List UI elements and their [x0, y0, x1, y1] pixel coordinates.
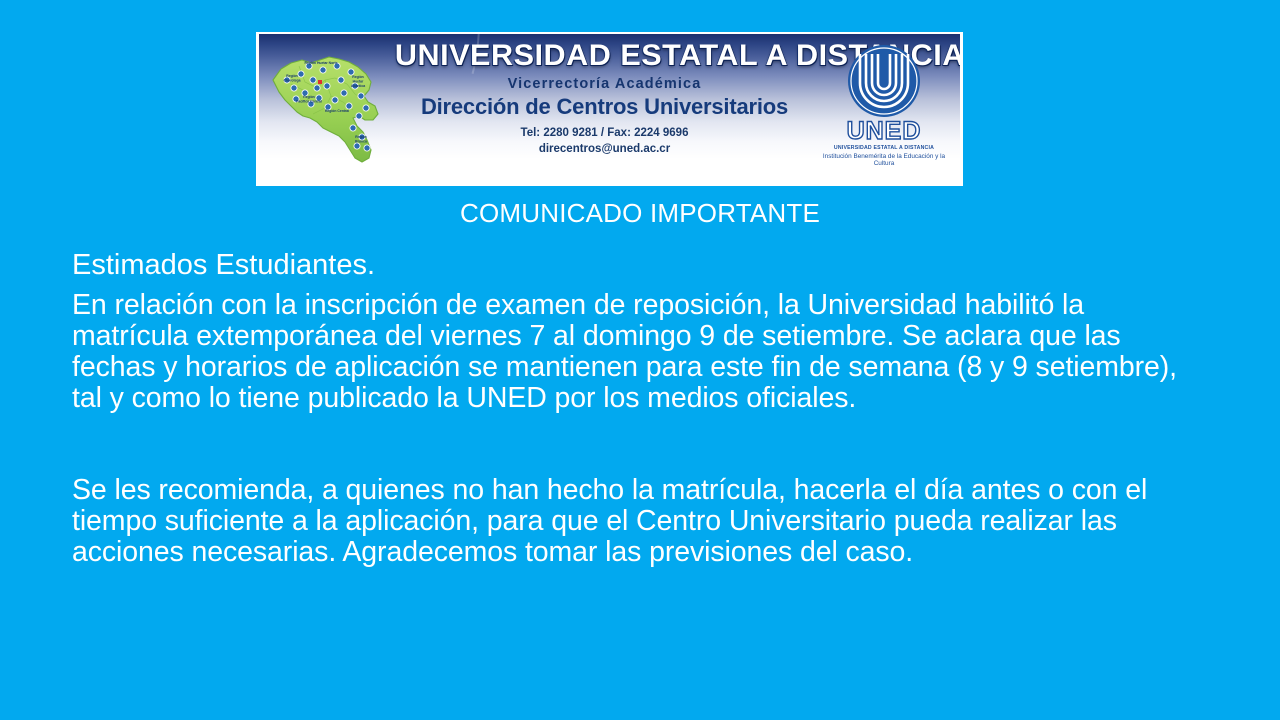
svg-text:Región: Región: [286, 74, 298, 78]
svg-text:Huetar: Huetar: [353, 80, 364, 84]
paragraph-2: Se les recomienda, a quienes no han hech…: [72, 475, 1198, 567]
costa-rica-map: Región Huetar Norte RegiónChorotega Regi…: [265, 36, 395, 176]
banner-phone: Tel: 2280 9281 / Fax: 2224 9696: [399, 127, 810, 139]
uned-tagline-benemerita: Institución Benemérita de la Educación y…: [816, 153, 952, 167]
announcement-body: Estimados Estudiantes. En relación con l…: [72, 248, 1198, 568]
banner-text-block: UNIVERSIDAD ESTATAL A DISTANCIA Vicerrec…: [399, 40, 810, 155]
svg-text:Región Central: Región Central: [325, 109, 349, 113]
costa-rica-map-icon: Región Huetar Norte RegiónChorotega Regi…: [265, 36, 395, 176]
greeting-line: Estimados Estudiantes.: [72, 248, 1198, 282]
uned-tagline-university: UNIVERSIDAD ESTATAL A DISTANCIA: [816, 145, 952, 151]
svg-text:Chorotega: Chorotega: [284, 79, 301, 83]
svg-text:Atlántica: Atlántica: [351, 84, 365, 88]
banner-email: direcentros@uned.ac.cr: [399, 143, 810, 155]
svg-text:Región: Región: [303, 95, 315, 99]
page-title: COMUNICADO IMPORTANTE: [0, 198, 1280, 229]
svg-text:Región: Región: [355, 135, 367, 139]
uned-wordmark: UNED: [816, 119, 952, 144]
capital-marker-icon: [318, 80, 322, 84]
svg-text:Región: Región: [352, 75, 364, 79]
uned-emblem-icon: [847, 44, 921, 118]
banner-subtitle: Vicerrectoría Académica: [399, 76, 810, 92]
banner-background: Región Huetar Norte RegiónChorotega Regi…: [259, 34, 960, 176]
uned-logo: UNED UNIVERSIDAD ESTATAL A DISTANCIA Ins…: [816, 44, 952, 167]
banner-department: Dirección de Centros Universitarios: [399, 94, 810, 120]
svg-text:Brunca: Brunca: [355, 140, 367, 144]
paragraph-1: En relación con la inscripción de examen…: [72, 290, 1198, 413]
svg-text:Región Huetar Norte: Región Huetar Norte: [305, 61, 338, 65]
banner-university-title: UNIVERSIDAD ESTATAL A DISTANCIA: [395, 40, 814, 72]
svg-text:Pacífico Central: Pacífico Central: [296, 100, 322, 104]
uned-header-banner: Región Huetar Norte RegiónChorotega Regi…: [256, 32, 963, 186]
slide-canvas: Región Huetar Norte RegiónChorotega Regi…: [0, 0, 1280, 720]
paragraph-spacer: [72, 413, 1198, 475]
